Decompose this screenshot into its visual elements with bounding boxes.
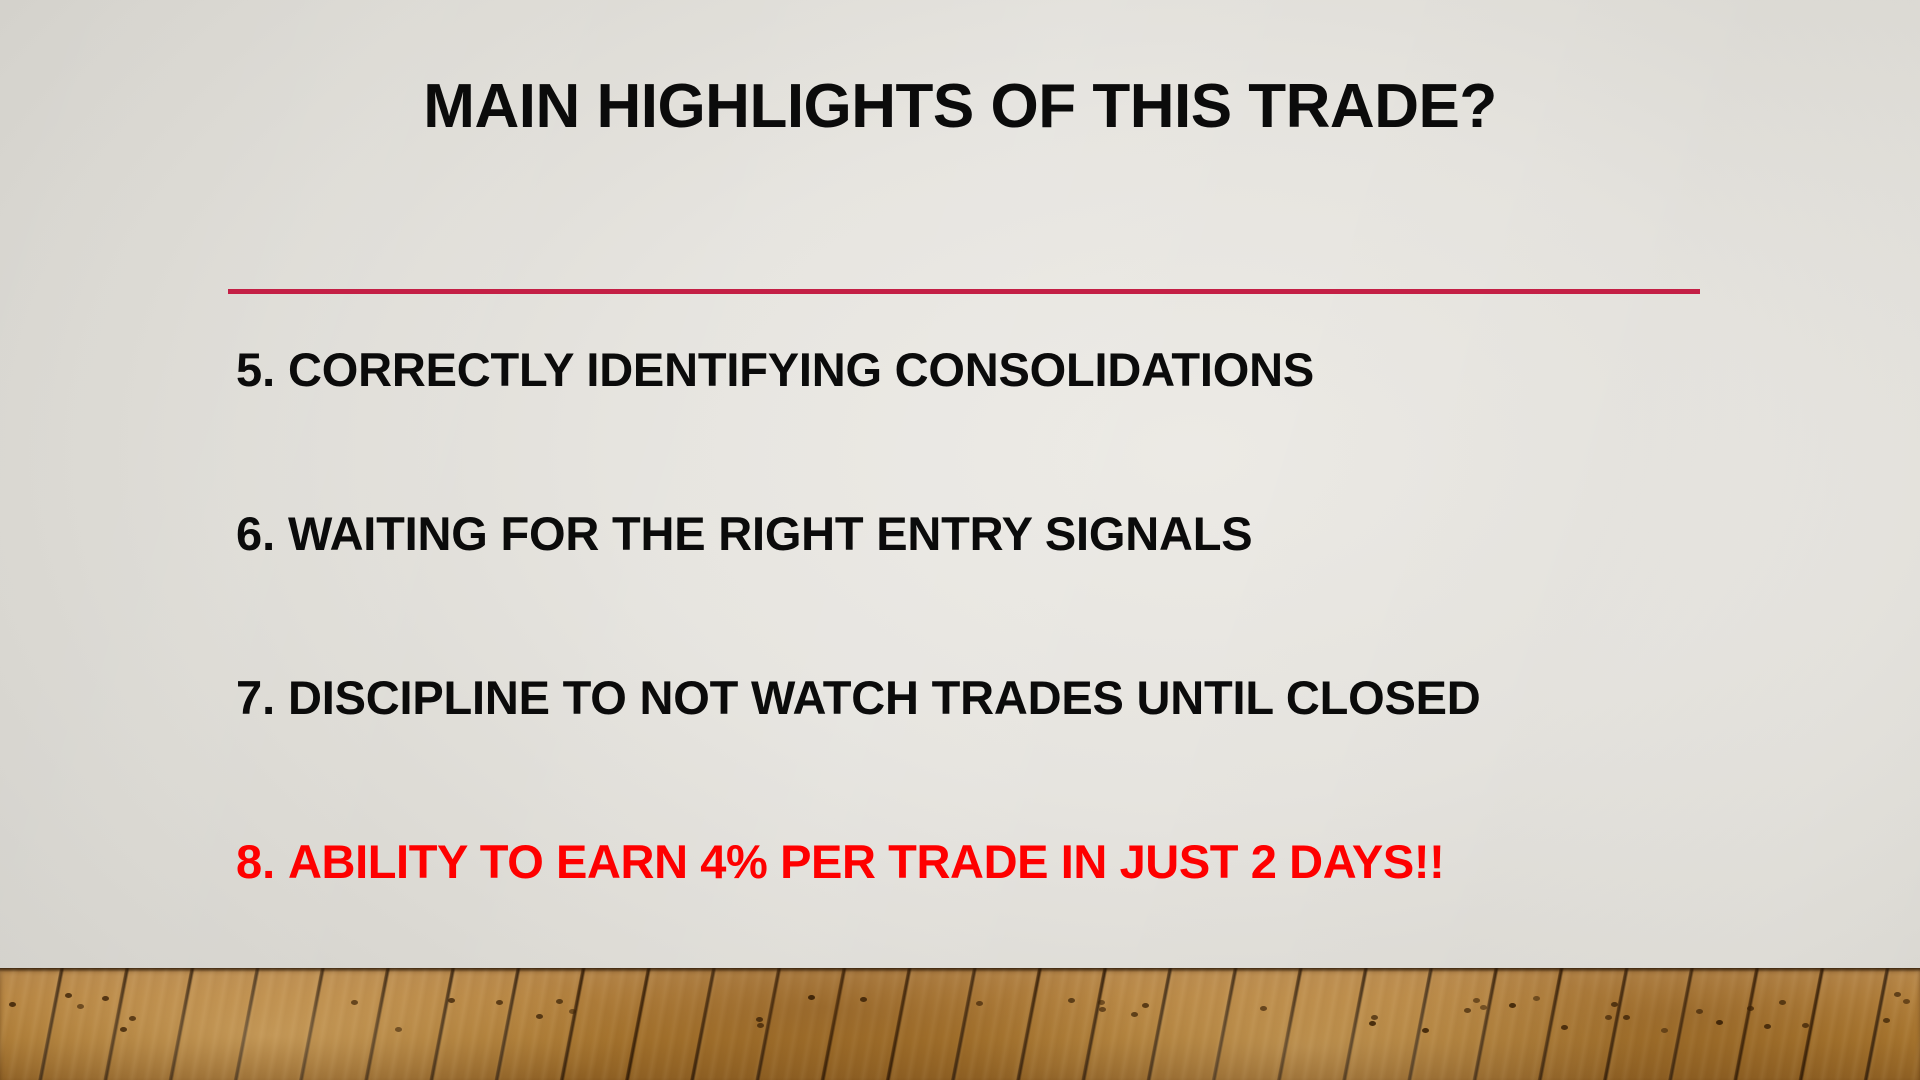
list-item-label: DISCIPLINE TO NOT WATCH TRADES UNTIL CLO…	[288, 670, 1481, 725]
list-item: 7. DISCIPLINE TO NOT WATCH TRADES UNTIL …	[236, 670, 1796, 834]
floor-nail-dot	[1260, 1006, 1267, 1011]
list-item: 5. CORRECTLY IDENTIFYING CONSOLIDATIONS	[236, 342, 1796, 506]
list-item-label: WAITING FOR THE RIGHT ENTRY SIGNALS	[288, 506, 1252, 561]
floor-nail-dot	[1802, 1023, 1809, 1028]
floor-nail-dot	[1480, 1005, 1487, 1010]
slide-title: MAIN HIGHLIGHTS OF THIS TRADE?	[0, 74, 1920, 139]
floor-nail-dot	[1533, 996, 1540, 1001]
floor-nail-dot	[1509, 1003, 1516, 1008]
list-item-number: 6.	[236, 506, 288, 561]
floor-nail-dot	[1142, 1003, 1149, 1008]
floor-nail-dot	[1779, 1000, 1786, 1005]
floor-nail-dot	[1747, 1006, 1754, 1011]
floor-nail-dot	[569, 1009, 576, 1014]
floor-nail-dot	[757, 1023, 764, 1028]
floor-edge-shadow	[0, 968, 1920, 972]
floor-nail-dot	[1661, 1028, 1668, 1033]
floor-nail-dot	[496, 1000, 503, 1005]
floor-nail-dot	[395, 1027, 402, 1032]
floor-nail-dot	[129, 1016, 136, 1021]
floor-nail-dot	[448, 998, 455, 1003]
floor-nail-dot	[1369, 1021, 1376, 1026]
floor-nail-dot	[1561, 1025, 1568, 1030]
floor-nail-dot	[77, 1004, 84, 1009]
floor-nail-dot	[756, 1017, 763, 1022]
floor-nail-dot	[1903, 999, 1910, 1004]
floor-nail-dot	[1764, 1024, 1771, 1029]
floor-nail-dot	[1623, 1015, 1630, 1020]
floor-nail-dot	[351, 1000, 358, 1005]
floor-nail-dot	[1716, 1020, 1723, 1025]
floor-nail-dot	[976, 1001, 983, 1006]
list-item-number: 5.	[236, 342, 288, 397]
list-item-number: 8.	[236, 834, 288, 889]
floor-nail-dot	[536, 1014, 543, 1019]
floor-nail-dot	[120, 1027, 127, 1032]
floor-nail-dot	[1098, 1000, 1105, 1005]
floor-nail-dot	[1605, 1015, 1612, 1020]
floor-nail-dot	[9, 1002, 16, 1007]
floor-nail-dot	[1473, 998, 1480, 1003]
floor-nail-dot	[1883, 1018, 1890, 1023]
floor-nail-dot	[1611, 1002, 1618, 1007]
presentation-slide: MAIN HIGHLIGHTS OF THIS TRADE? 5. CORREC…	[0, 0, 1920, 1080]
title-divider-rule	[228, 289, 1700, 294]
list-item-number: 7.	[236, 670, 288, 725]
list-item: 6. WAITING FOR THE RIGHT ENTRY SIGNALS	[236, 506, 1796, 670]
floor-nail-dot	[102, 996, 109, 1001]
floor-nail-dot	[556, 999, 563, 1004]
floor-nail-dot	[1371, 1015, 1378, 1020]
floor-nail-dot	[1422, 1028, 1429, 1033]
list-item-label: ABILITY TO EARN 4% PER TRADE IN JUST 2 D…	[288, 834, 1444, 889]
floor-nail-dot	[1464, 1008, 1471, 1013]
floor-nail-dot	[65, 993, 72, 998]
floor-nail-dot	[1131, 1012, 1138, 1017]
floor-nail-dot	[808, 995, 815, 1000]
floor-nail-dot	[1099, 1007, 1106, 1012]
floor-nail-dot	[1894, 992, 1901, 997]
floor-nail-dot	[1068, 998, 1075, 1003]
floor-nail-dot	[1696, 1009, 1703, 1014]
floor-knots	[0, 968, 1920, 1080]
highlights-list: 5. CORRECTLY IDENTIFYING CONSOLIDATIONS …	[236, 342, 1796, 998]
wood-floor-decoration	[0, 968, 1920, 1080]
floor-nail-dot	[860, 997, 867, 1002]
list-item-label: CORRECTLY IDENTIFYING CONSOLIDATIONS	[288, 342, 1314, 397]
